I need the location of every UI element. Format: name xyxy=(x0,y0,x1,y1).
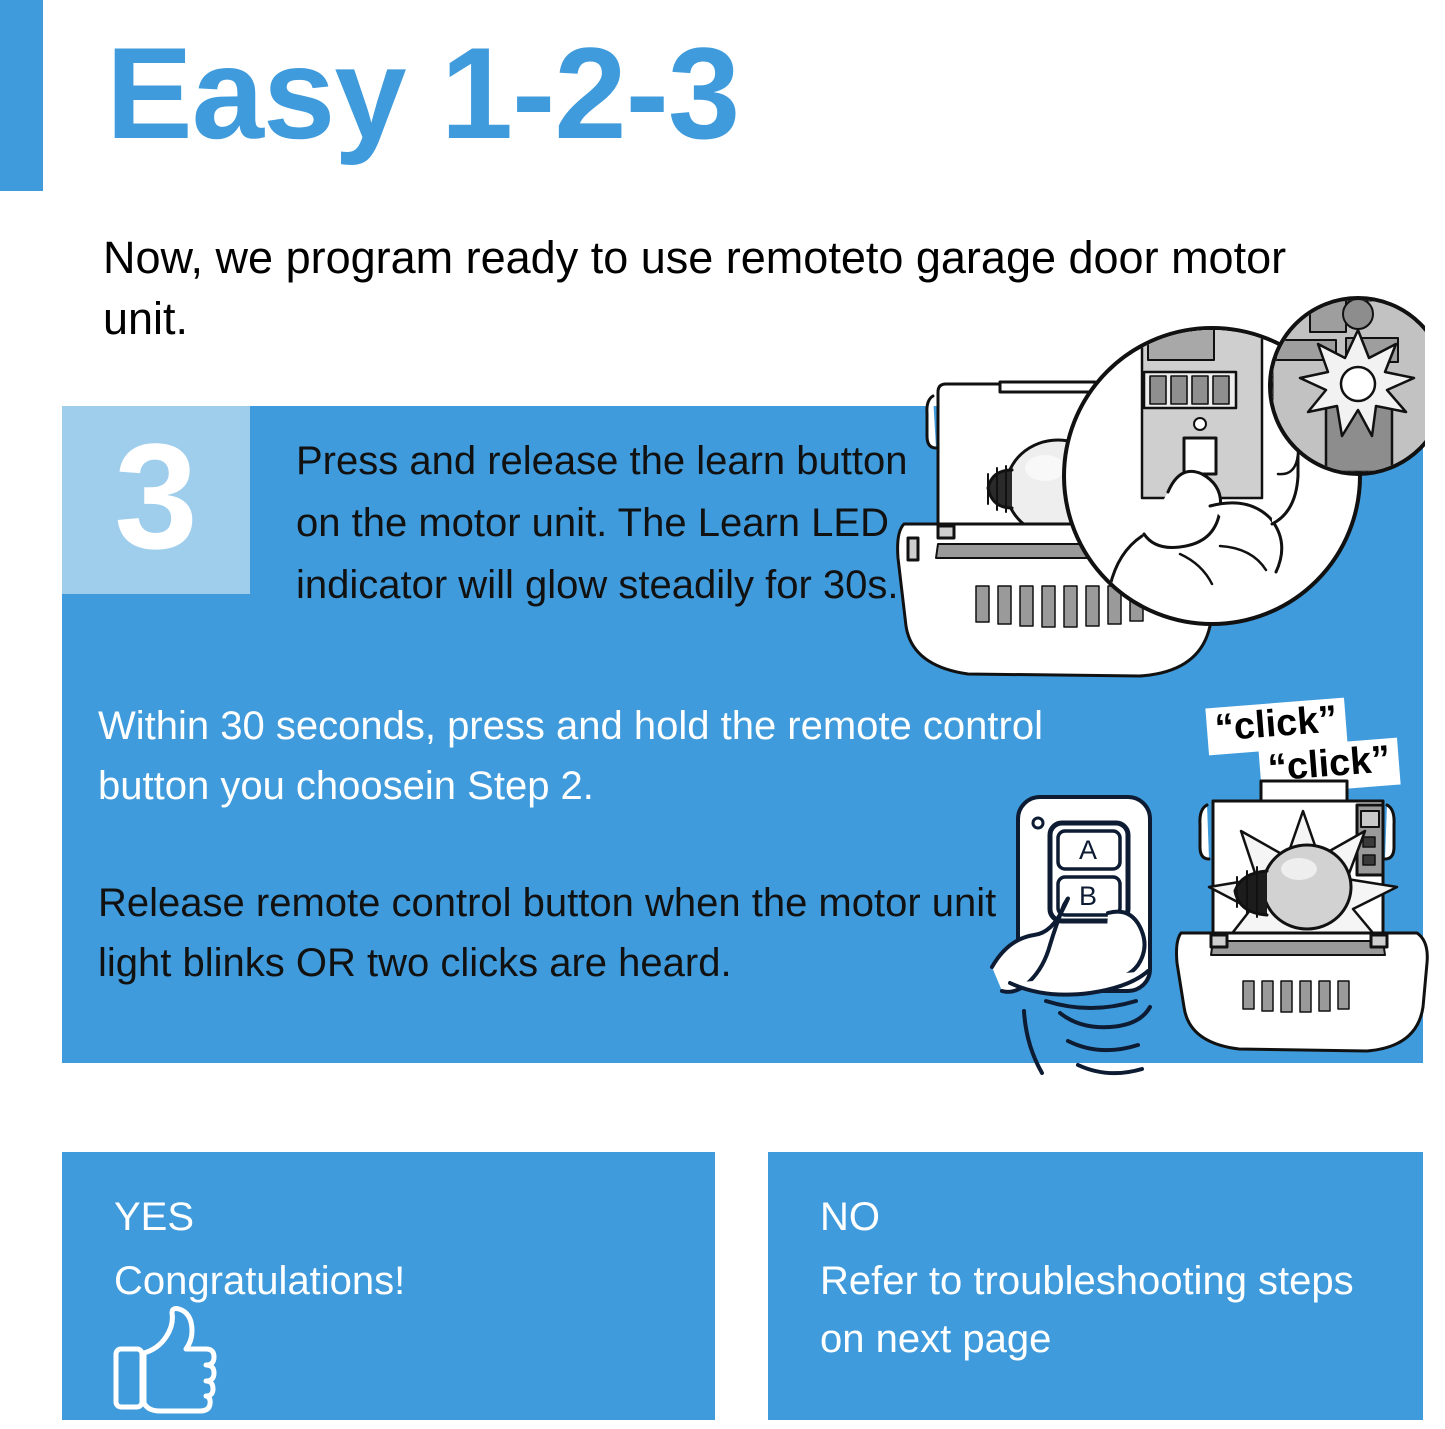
remote-button-a-label: A xyxy=(1079,835,1097,865)
outcome-no-body: Refer to troubleshooting steps on next p… xyxy=(820,1252,1380,1368)
step-number-badge: 3 xyxy=(62,406,250,594)
thumbs-up-icon xyxy=(112,1305,217,1417)
header-accent-bar xyxy=(0,0,43,191)
step-number-label: 3 xyxy=(114,421,197,571)
motor-unit-illustration xyxy=(880,296,1425,681)
outcome-no-heading: NO xyxy=(820,1197,880,1237)
remote-button-b-label: B xyxy=(1079,881,1097,911)
remote-control-illustration: A B xyxy=(990,785,1205,1085)
outcome-yes-body: Congratulations! xyxy=(114,1252,674,1310)
step-instruction-text: Press and release the learn button on th… xyxy=(296,430,916,616)
outcome-box-no: NO Refer to troubleshooting steps on nex… xyxy=(768,1152,1423,1420)
outcome-yes-heading: YES xyxy=(114,1197,194,1237)
release-button-paragraph: Release remote control button when the m… xyxy=(98,873,998,993)
within-30-seconds-paragraph: Within 30 seconds, press and hold the re… xyxy=(98,696,1048,816)
page-title: Easy 1-2-3 xyxy=(106,28,739,158)
blinking-motor-light-illustration xyxy=(1175,775,1430,1065)
